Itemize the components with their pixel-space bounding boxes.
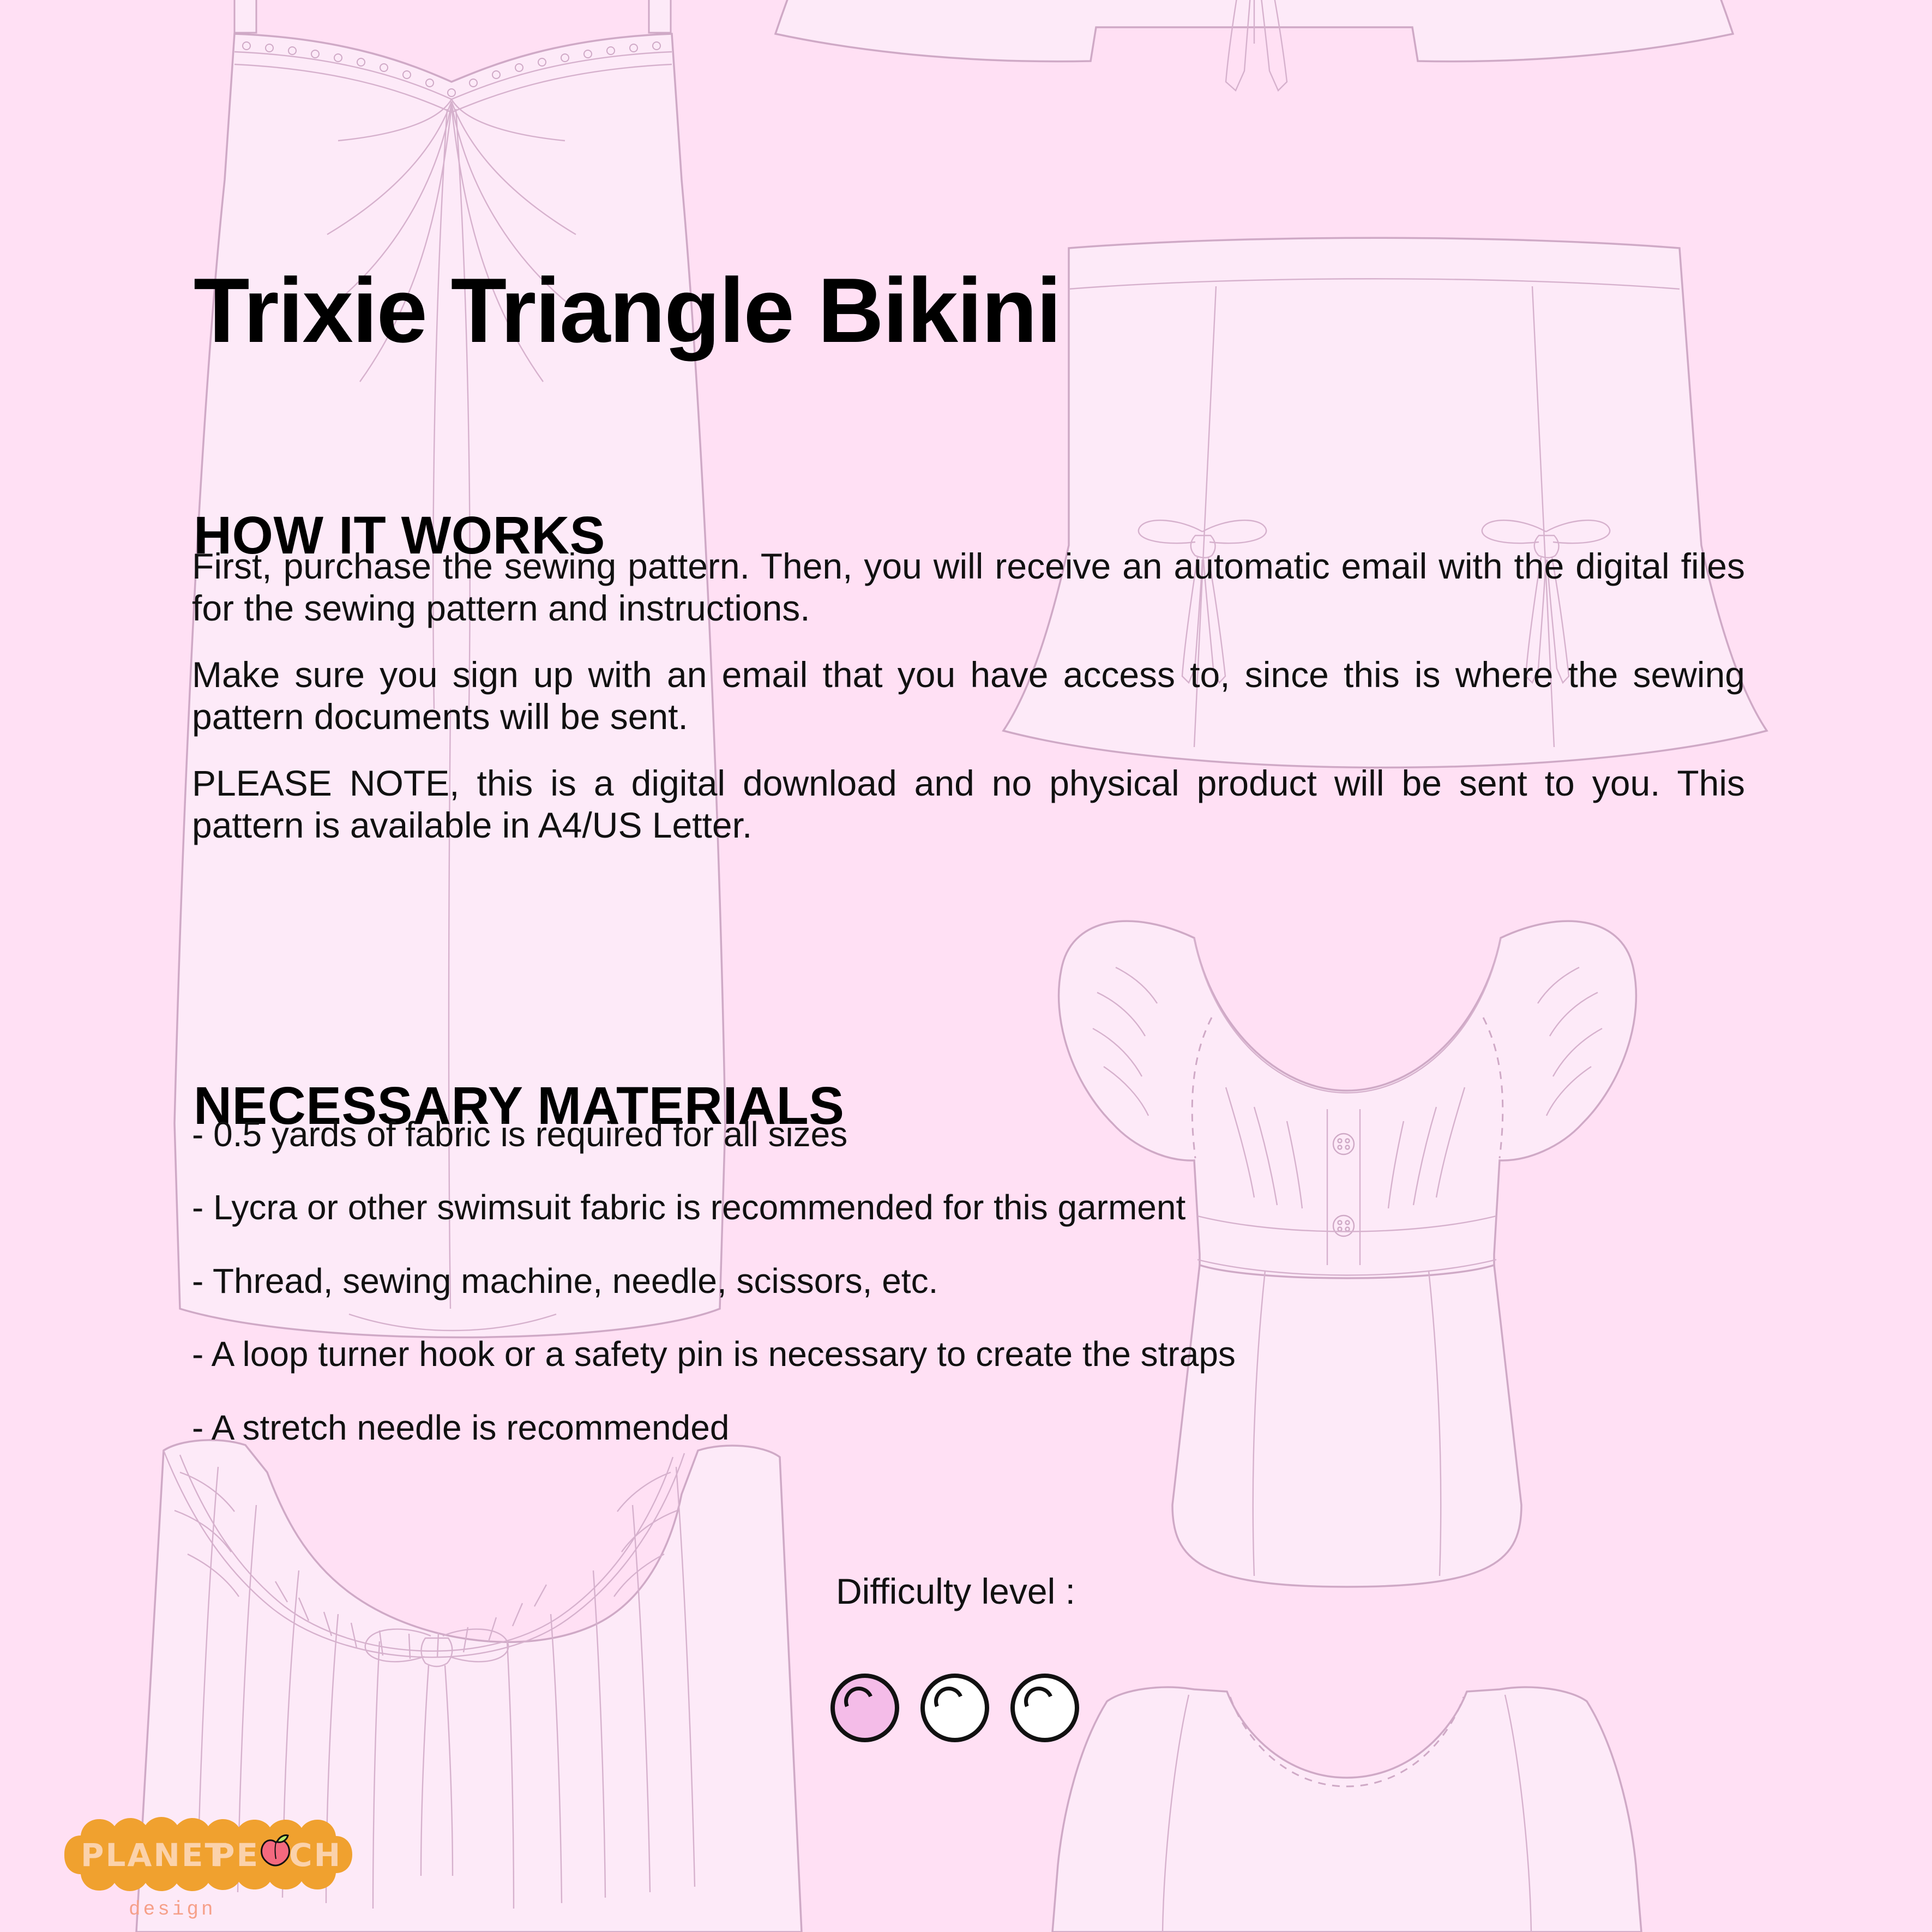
svg-text:CH: CH (289, 1837, 342, 1874)
planet-peach-logo: PLANET PE CH design (55, 1813, 382, 1921)
svg-text:PE: PE (212, 1837, 260, 1874)
pattern-listing-page: Trixie Triangle Bikini HOW IT WORKS Firs… (0, 0, 1932, 1932)
logo-badge: PLANET PE CH (55, 1813, 382, 1895)
shine-highlight-icon (1020, 1682, 1058, 1720)
logo-wordmark: PLANET PE CH (81, 1837, 342, 1874)
how-it-works-paragraph-2: Make sure you sign up with an email that… (192, 654, 1745, 737)
svg-text:PLANET: PLANET (81, 1837, 228, 1874)
logo-subtitle: design (129, 1898, 382, 1921)
shine-highlight-icon (840, 1682, 878, 1720)
list-item: - 0.5 yards of fabric is required for al… (192, 1115, 1773, 1153)
difficulty-dot-3 (1010, 1674, 1079, 1742)
list-item: - Lycra or other swimsuit fabric is reco… (192, 1188, 1773, 1226)
how-it-works-paragraph-1: First, purchase the sewing pattern. Then… (192, 545, 1745, 629)
list-item: - A stretch needle is recommended (192, 1409, 1773, 1447)
difficulty-dot-2 (920, 1674, 989, 1742)
necessary-materials-list: - 0.5 yards of fabric is required for al… (192, 1115, 1773, 1482)
difficulty-level-label: Difficulty level : (836, 1573, 1079, 1609)
page-title: Trixie Triangle Bikini (194, 264, 1061, 356)
list-item: - Thread, sewing machine, needle, scisso… (192, 1262, 1773, 1300)
difficulty-dots (830, 1674, 1079, 1742)
list-item: - A loop turner hook or a safety pin is … (192, 1335, 1773, 1373)
shine-highlight-icon (930, 1682, 968, 1720)
difficulty-level: Difficulty level : (830, 1573, 1079, 1742)
difficulty-dot-1 (830, 1674, 899, 1742)
how-it-works-body: First, purchase the sewing pattern. Then… (192, 545, 1745, 846)
how-it-works-paragraph-3: PLEASE NOTE, this is a digital download … (192, 762, 1745, 846)
